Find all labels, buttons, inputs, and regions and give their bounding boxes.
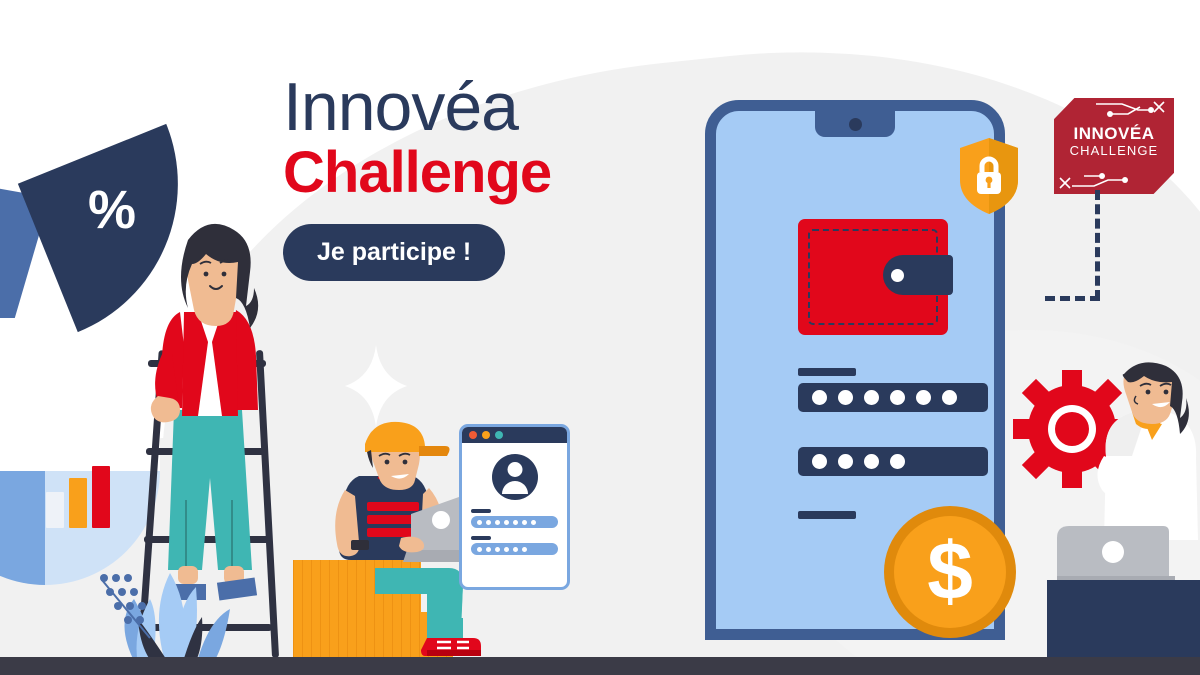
percent-symbol: % bbox=[88, 179, 136, 241]
innovea-challenge-badge: INNOVÉA CHALLENGE bbox=[1054, 98, 1174, 194]
phone-notch bbox=[815, 111, 895, 137]
desk-surface bbox=[1047, 580, 1200, 658]
shield-lock-icon bbox=[958, 136, 1020, 216]
login-card[interactable] bbox=[459, 424, 570, 590]
phone-camera-icon bbox=[849, 118, 862, 131]
headline-block: Innovéa Challenge Je participe ! bbox=[283, 74, 703, 281]
sparkle-icon bbox=[345, 345, 407, 427]
wallet-icon bbox=[798, 219, 948, 335]
badge-text: INNOVÉA CHALLENGE bbox=[1054, 125, 1174, 161]
bar-1 bbox=[46, 492, 64, 528]
floor-strip bbox=[0, 657, 1200, 675]
login-card-titlebar bbox=[462, 427, 567, 443]
dashed-line-decoration bbox=[1040, 190, 1170, 330]
dollar-symbol: $ bbox=[894, 516, 1006, 628]
phone-field-label-2 bbox=[798, 511, 856, 519]
wallet-button bbox=[891, 269, 904, 282]
page-subtitle: Challenge bbox=[283, 143, 703, 204]
laptop-icon bbox=[1057, 526, 1175, 588]
password-label bbox=[471, 536, 491, 540]
password-field[interactable] bbox=[471, 543, 558, 555]
phone-password-field-2[interactable] bbox=[798, 447, 988, 476]
username-field[interactable] bbox=[471, 516, 558, 528]
foliage-decoration bbox=[78, 520, 268, 665]
login-card-body bbox=[462, 443, 567, 555]
phone-field-label-1 bbox=[798, 368, 856, 376]
badge-line-1: INNOVÉA bbox=[1054, 125, 1174, 142]
hero-banner: % bbox=[0, 0, 1200, 675]
badge-line-2: CHALLENGE bbox=[1054, 142, 1174, 161]
bar-3 bbox=[92, 466, 110, 528]
window-dot-maximize[interactable] bbox=[495, 431, 503, 439]
wallet-flap bbox=[883, 255, 953, 295]
woman-at-desk-illustration bbox=[1100, 360, 1200, 540]
phone-password-field-1[interactable] bbox=[798, 383, 988, 412]
window-dot-minimize[interactable] bbox=[482, 431, 490, 439]
dollar-coin-icon: $ bbox=[884, 506, 1016, 638]
bar-chart-graphic bbox=[46, 468, 118, 528]
avatar-icon bbox=[492, 454, 538, 500]
page-title: Innovéa bbox=[283, 74, 703, 141]
window-dot-close[interactable] bbox=[469, 431, 477, 439]
participate-button[interactable]: Je participe ! bbox=[283, 224, 505, 281]
username-label bbox=[471, 509, 491, 513]
